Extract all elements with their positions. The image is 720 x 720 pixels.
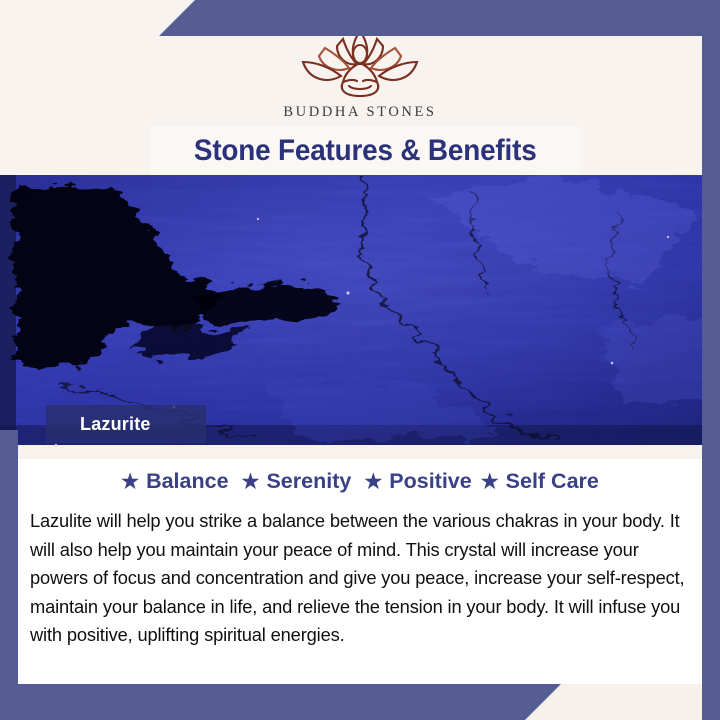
benefit-item-positive: Positive: [389, 469, 471, 493]
description-card: ★Balance★Serenity★Positive★Self Care Laz…: [18, 445, 702, 685]
benefits-list: ★Balance★Serenity★Positive★Self Care: [18, 469, 702, 494]
frame-right-border: [702, 0, 720, 720]
benefit-item-balance: Balance: [146, 469, 228, 493]
star-icon: ★: [364, 471, 382, 493]
frame-left-border: [0, 430, 18, 720]
page-title: Stone Features & Benefits: [194, 134, 537, 168]
brand-logo: BUDDHA STONES: [0, 24, 720, 121]
star-icon: ★: [481, 471, 499, 493]
description-text: Lazulite will help you strike a balance …: [30, 507, 690, 650]
stone-info-poster: BUDDHA STONES: [0, 0, 720, 720]
brand-name: BUDDHA STONES: [0, 104, 720, 121]
stone-name-label: Lazurite: [46, 405, 206, 443]
stone-name-text: Lazurite: [46, 414, 151, 435]
star-icon: ★: [121, 471, 139, 493]
star-icon: ★: [242, 471, 260, 493]
card-top-tint: [18, 445, 702, 459]
benefit-item-serenity: Serenity: [266, 469, 351, 493]
benefit-item-self-care: Self Care: [506, 469, 599, 493]
page-title-band: Stone Features & Benefits: [150, 126, 580, 175]
